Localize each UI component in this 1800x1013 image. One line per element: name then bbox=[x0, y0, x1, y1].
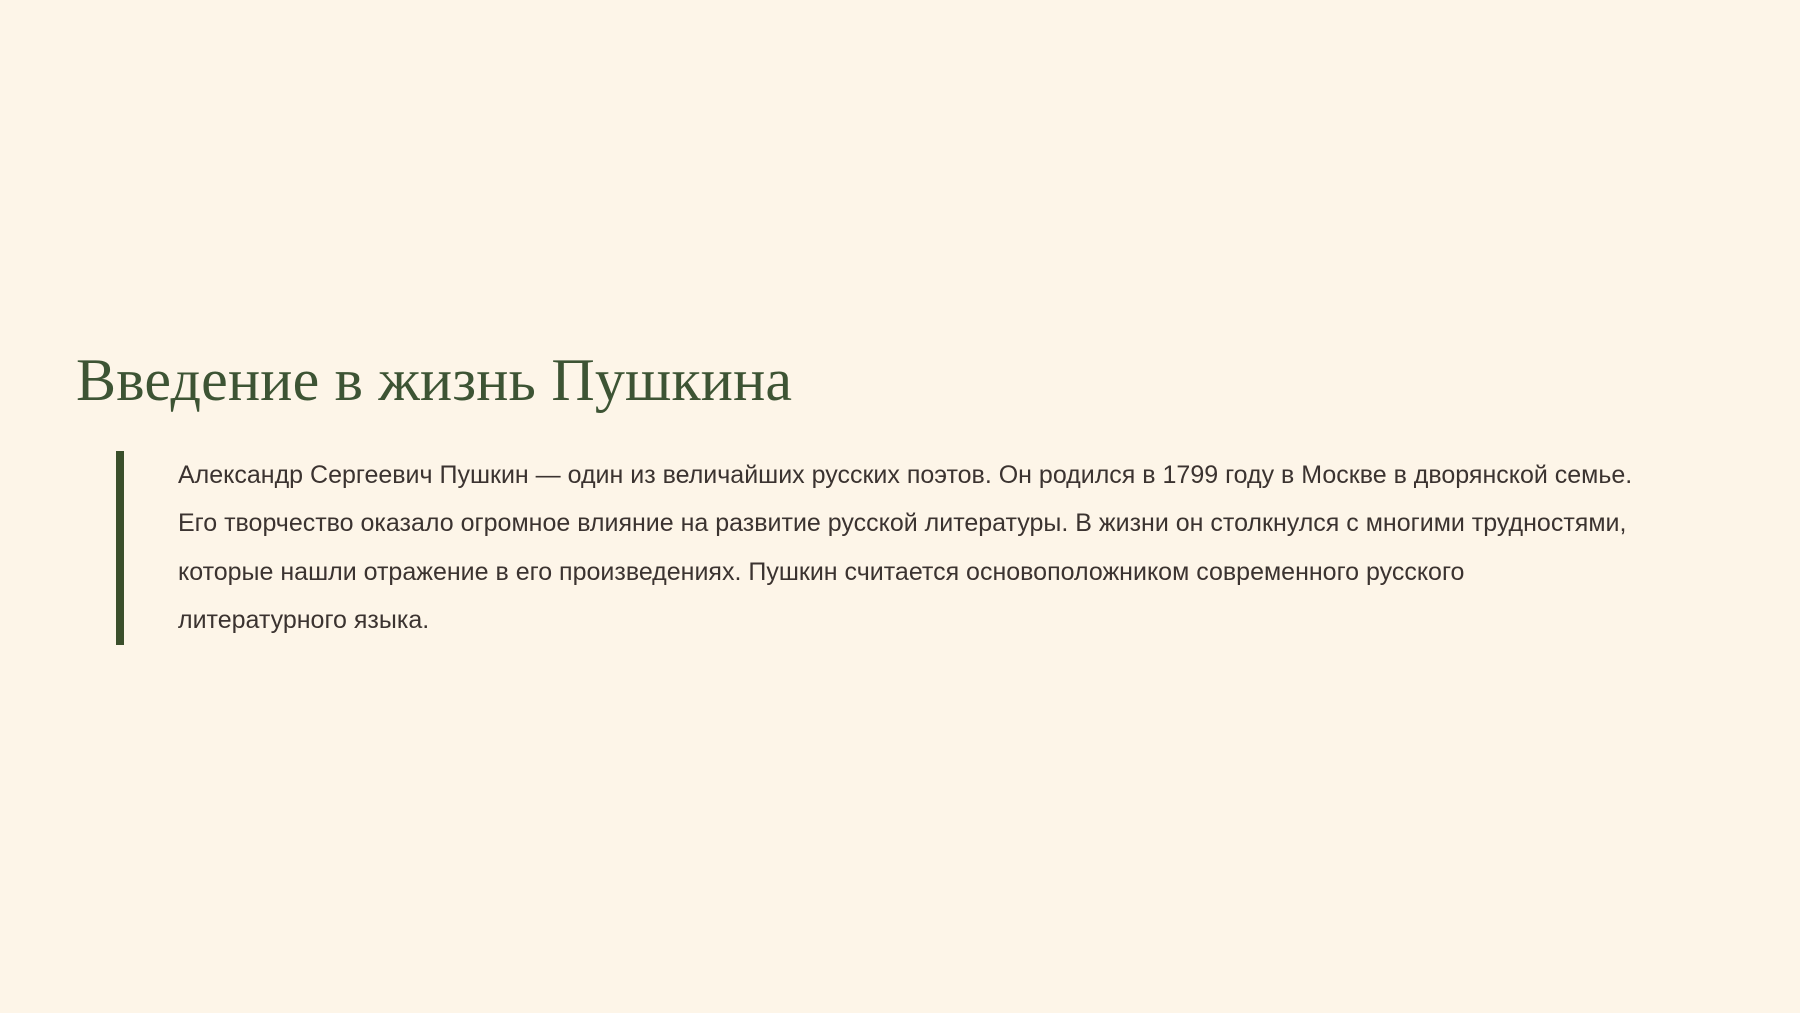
page-root: Введение в жизнь Пушкина Александр Серге… bbox=[0, 0, 1800, 1013]
quote-paragraph: Александр Сергеевич Пушкин — один из вел… bbox=[178, 451, 1636, 645]
content-container: Введение в жизнь Пушкина Александр Серге… bbox=[76, 348, 1676, 661]
page-title: Введение в жизнь Пушкина bbox=[76, 348, 1676, 413]
quote-block: Александр Сергеевич Пушкин — один из вел… bbox=[116, 451, 1636, 645]
